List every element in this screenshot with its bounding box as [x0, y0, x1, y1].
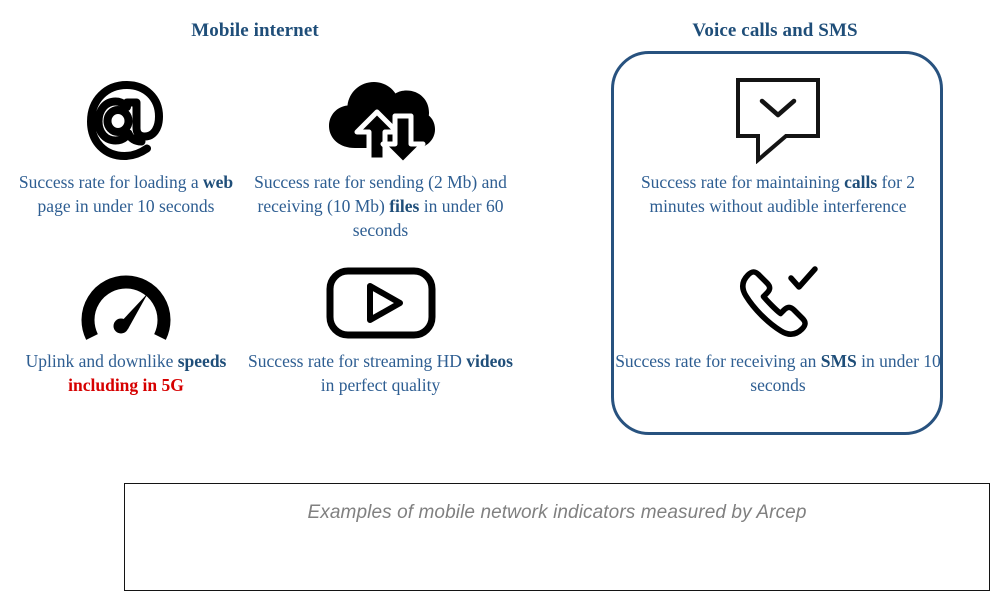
text-segment-bold: web	[203, 172, 233, 192]
text-segment-bold: videos	[466, 351, 513, 371]
text-segment: page in under 10 seconds	[38, 196, 215, 216]
text-segment: Success rate for receiving an	[615, 351, 821, 371]
section-heading-mobile-internet: Mobile internet	[0, 20, 510, 42]
phone-handset-check-icon	[730, 261, 826, 343]
text-segment-bold: speeds	[178, 351, 227, 371]
text-segment: Success rate for loading a	[19, 172, 203, 192]
indicator-calls-caption: Success rate for maintaining calls for 2…	[618, 170, 938, 218]
text-segment-accent: including in 5G	[68, 375, 184, 395]
indicator-sms: Success rate for receiving an SMS in und…	[612, 255, 944, 397]
text-segment-bold: files	[389, 196, 419, 216]
speedometer-icon	[78, 263, 174, 343]
speech-bubble-chevron-icon-wrap	[732, 68, 824, 164]
figure-caption-text: Examples of mobile network indicators me…	[125, 502, 989, 524]
indicator-speeds: Uplink and downlike speeds including in …	[6, 255, 246, 397]
indicator-speeds-caption: Uplink and downlike speeds including in …	[6, 349, 246, 397]
indicator-videos: Success rate for streaming HD videos in …	[248, 255, 513, 397]
video-play-icon-wrap	[324, 255, 438, 343]
at-sign-icon	[85, 78, 167, 164]
text-segment: Uplink and downlike	[26, 351, 178, 371]
text-segment: in perfect quality	[321, 375, 441, 395]
indicator-web-caption: Success rate for loading a web page in u…	[6, 170, 246, 218]
section-heading-voice-calls-sms: Voice calls and SMS	[575, 20, 975, 42]
at-sign-icon-wrap	[85, 68, 167, 164]
video-play-icon	[324, 263, 438, 343]
speech-bubble-chevron-icon	[732, 74, 824, 164]
speedometer-icon-wrap	[78, 255, 174, 343]
indicator-videos-caption: Success rate for streaming HD videos in …	[248, 349, 513, 397]
phone-handset-check-icon-wrap	[730, 255, 826, 343]
indicator-sms-caption: Success rate for receiving an SMS in und…	[612, 349, 944, 397]
indicator-web: Success rate for loading a web page in u…	[6, 68, 246, 218]
text-segment: Success rate for maintaining	[641, 172, 844, 192]
text-segment-bold: SMS	[821, 351, 857, 371]
figure-caption-box: Examples of mobile network indicators me…	[124, 483, 990, 591]
text-segment: Success rate for streaming HD	[248, 351, 466, 371]
cloud-upload-download-icon-wrap	[325, 68, 437, 164]
indicator-files: Success rate for sending (2 Mb) and rece…	[248, 68, 513, 242]
text-segment-bold: calls	[844, 172, 877, 192]
indicator-calls: Success rate for maintaining calls for 2…	[618, 68, 938, 218]
infographic-canvas: Mobile internet Voice calls and SMS Succ…	[0, 0, 1006, 606]
cloud-upload-download-icon	[325, 76, 437, 164]
indicator-files-caption: Success rate for sending (2 Mb) and rece…	[248, 170, 513, 242]
